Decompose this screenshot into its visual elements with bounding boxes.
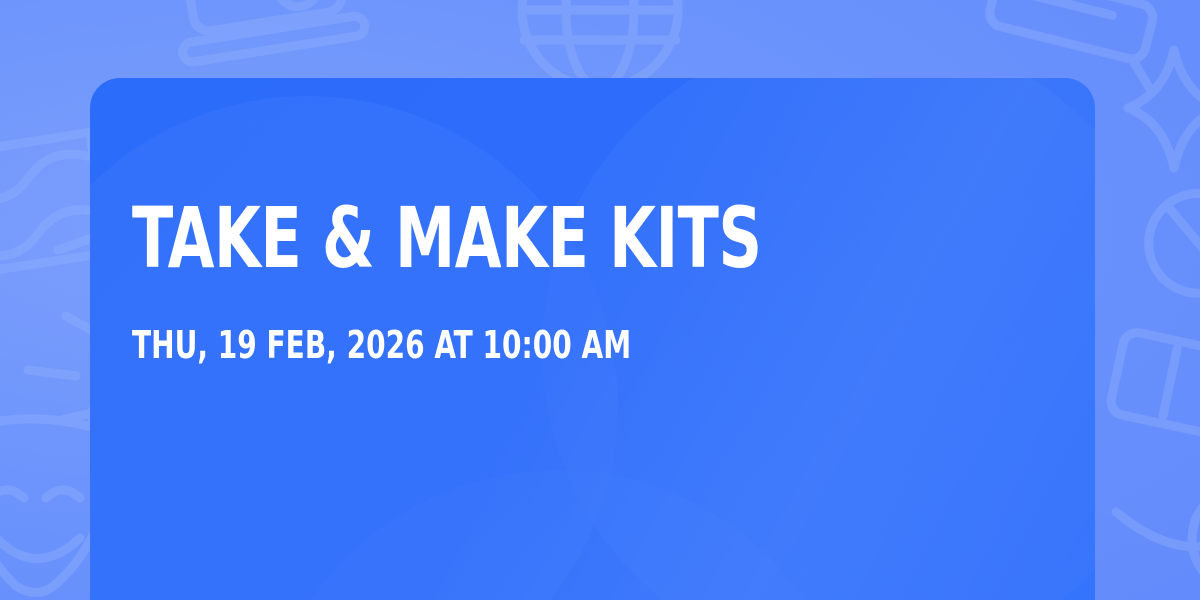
ticket-icon [1109,330,1200,443]
globe-icon [522,0,678,88]
event-hero-card: TAKE & MAKE KITS THU, 19 FEB, 2026 AT 10… [90,78,1095,600]
event-text-block: TAKE & MAKE KITS THU, 19 FEB, 2026 AT 10… [132,198,1035,367]
event-datetime: THU, 19 FEB, 2026 AT 10:00 AM [132,323,872,367]
projector-icon [170,0,366,63]
decorative-orb-lower [258,470,858,600]
streamer-ribbon-icon [1116,499,1200,600]
event-backdrop: TAKE & MAKE KITS THU, 19 FEB, 2026 AT 10… [0,0,1200,600]
event-title: TAKE & MAKE KITS [132,198,854,279]
